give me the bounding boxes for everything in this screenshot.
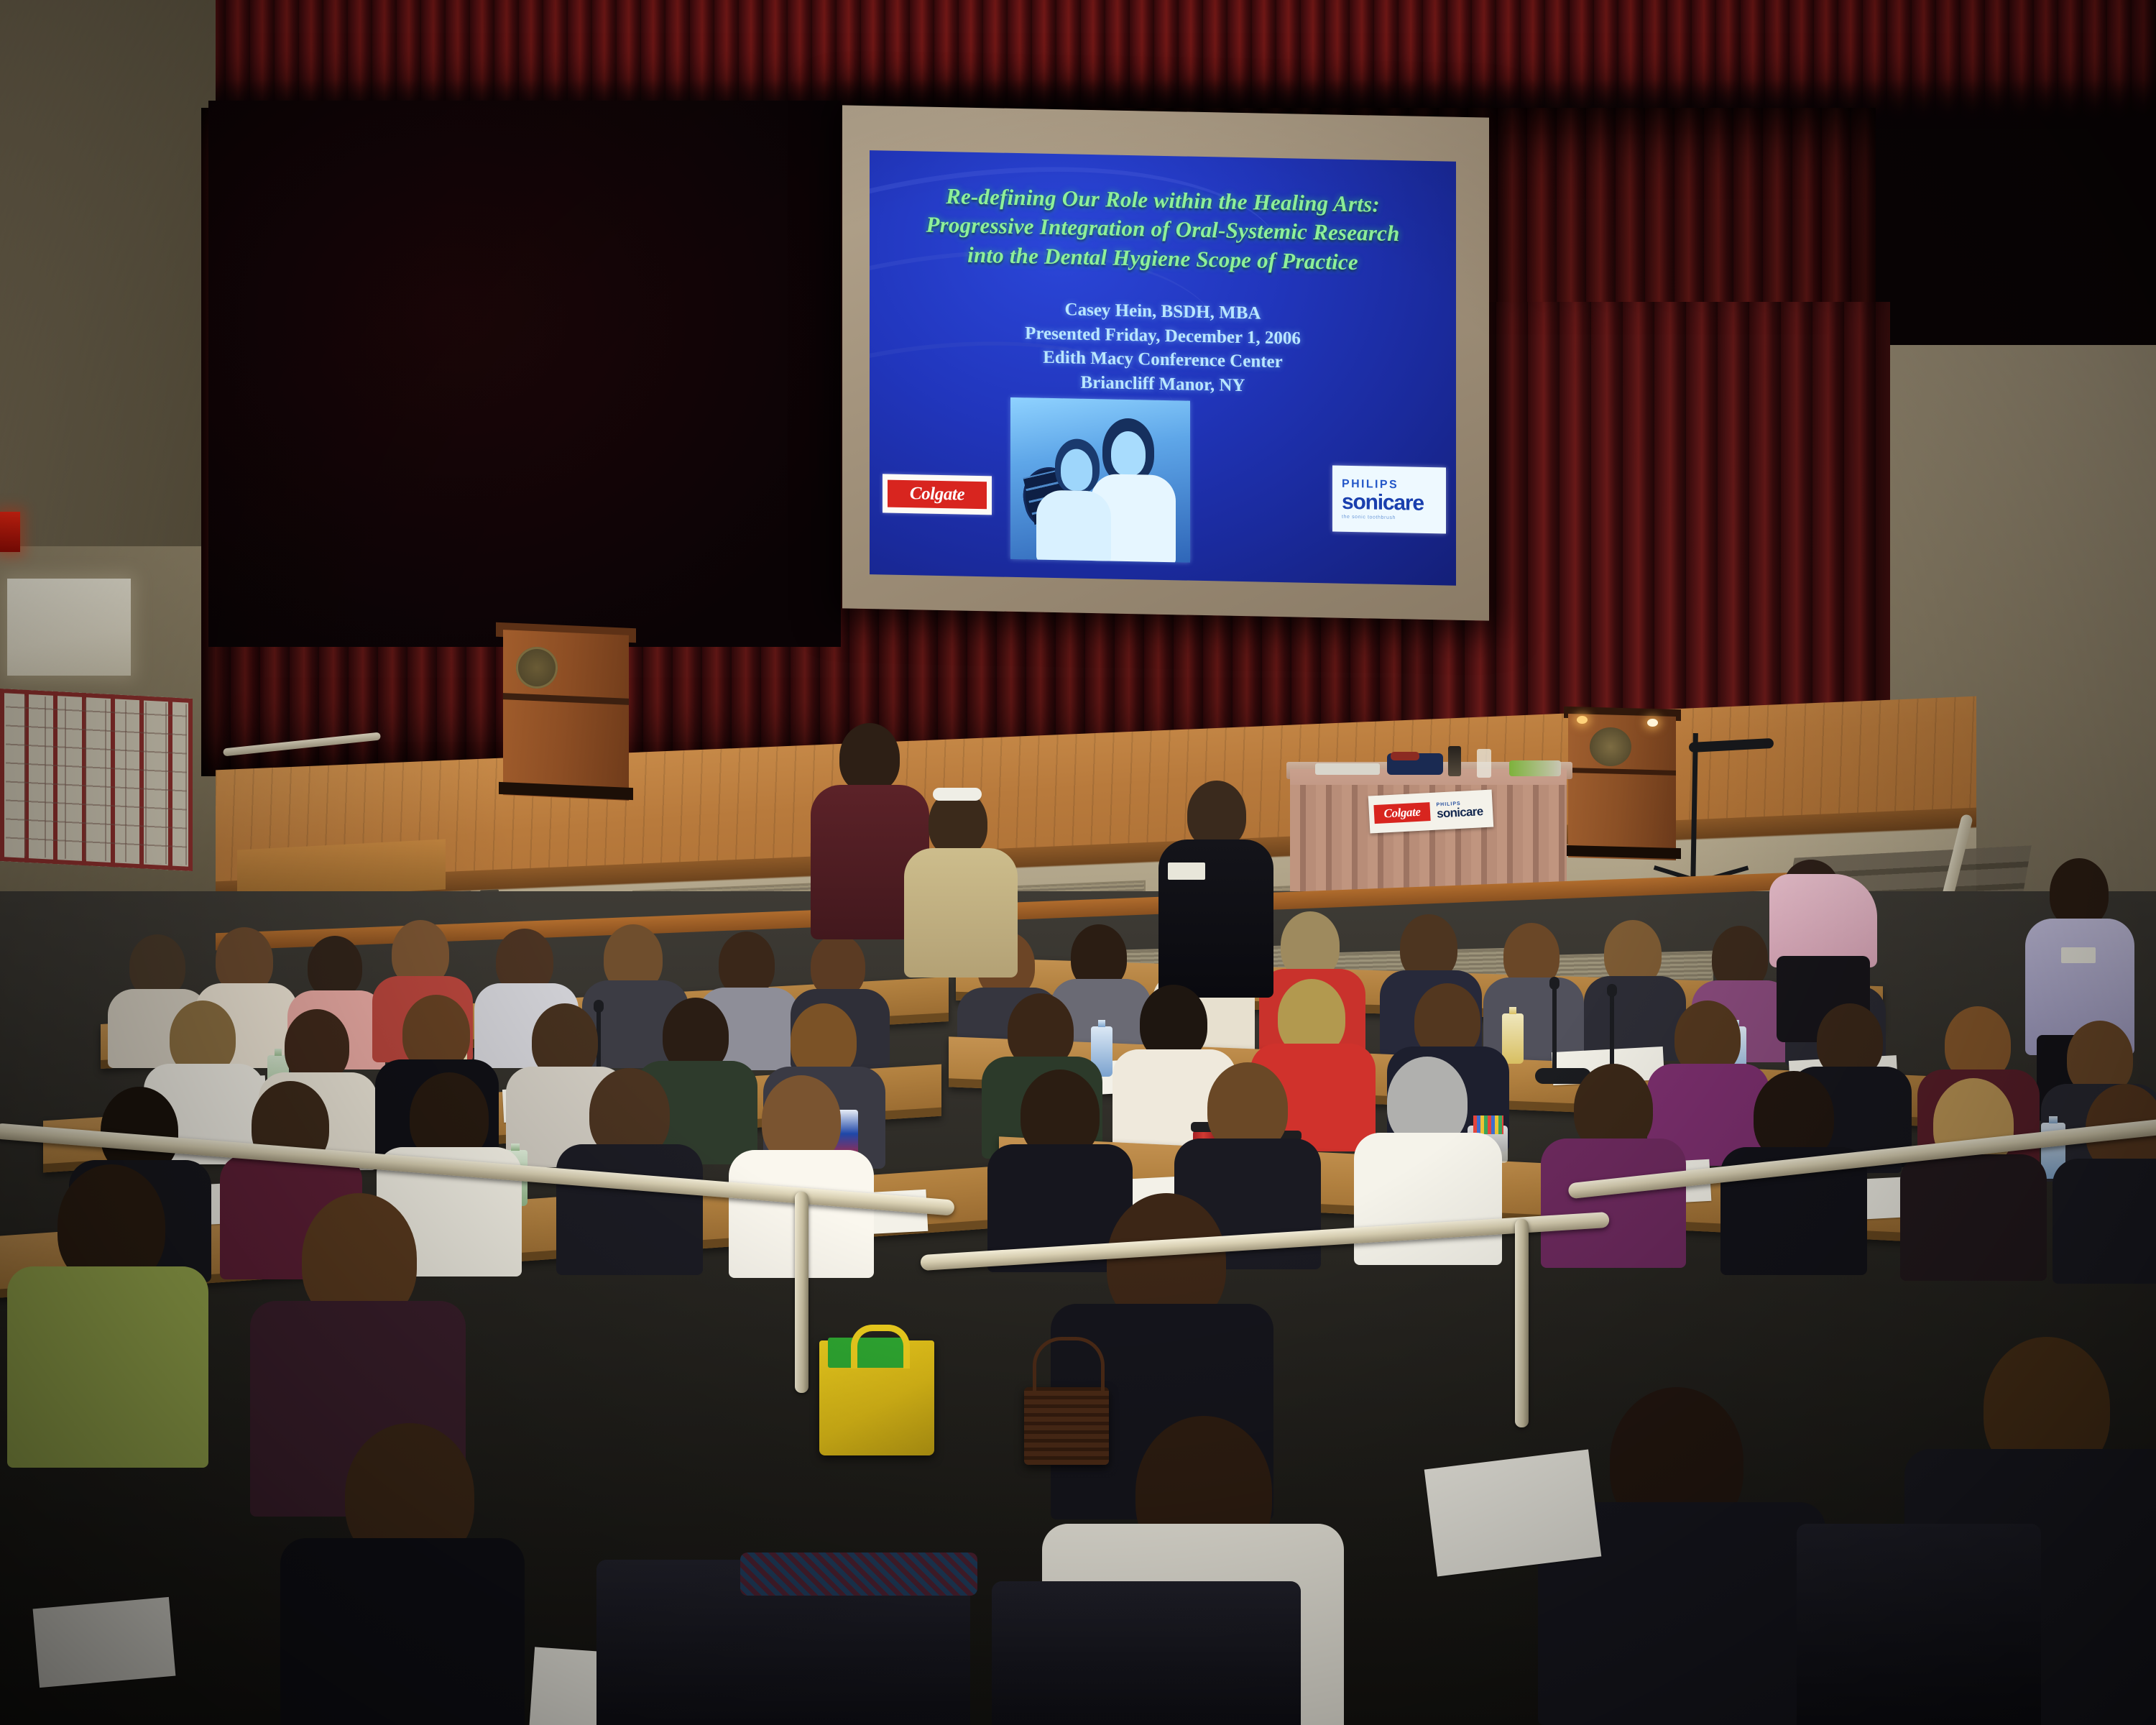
attendee-sweater — [904, 848, 1018, 977]
pens-in-cup — [1473, 1115, 1503, 1134]
philips-sonicare-logo: PHILIPS sonicare the sonic toothbrush — [1332, 465, 1446, 533]
shoji-folding-screen — [0, 689, 193, 871]
attendee-body — [1900, 1154, 2047, 1281]
attendee-body — [1483, 977, 1584, 1061]
name-badge — [2061, 947, 2096, 963]
left-wall-column — [0, 0, 216, 597]
table-glass — [1477, 749, 1491, 778]
lectern-lamp-icon — [1577, 716, 1588, 724]
presentation-slide: Re-defining Our Role within the Healing … — [870, 150, 1456, 586]
staff-pink-top — [1769, 874, 1877, 967]
presenter-head — [839, 723, 900, 792]
sonicare-label: sonicare — [1342, 492, 1446, 515]
podium-seal-icon — [516, 647, 558, 689]
juice-bottle — [1502, 1013, 1524, 1064]
attendee-head — [719, 931, 775, 996]
handout-paper — [1424, 1450, 1602, 1577]
attendee-head — [308, 936, 362, 998]
projection-screen: Re-defining Our Role within the Healing … — [842, 105, 1489, 620]
lectern-lamp-icon — [1647, 719, 1658, 727]
staff-head — [2050, 858, 2109, 927]
theater-seat — [1797, 1524, 2041, 1725]
basket-purse — [1024, 1387, 1109, 1465]
table-bottle — [1448, 746, 1461, 776]
table-microphone — [1610, 993, 1614, 1074]
attendee-body — [1541, 1138, 1686, 1268]
attendee-body — [1354, 1133, 1502, 1265]
colgate-logo-label: Colgate — [888, 480, 987, 510]
sonicare-tagline: the sonic toothbrush — [1342, 515, 1446, 522]
patterned-seat-fabric — [740, 1552, 977, 1596]
sponsor-table-skirt — [1290, 769, 1567, 898]
attendee-body — [280, 1538, 525, 1725]
auditorium-photo: Re-defining Our Role within the Healing … — [0, 0, 2156, 1725]
lit-doorway — [7, 579, 131, 676]
clinician-a-face — [1061, 448, 1092, 491]
railing-post — [1515, 1219, 1529, 1427]
banner-sonicare-label: sonicare — [1437, 805, 1483, 819]
exit-sign-icon — [0, 512, 20, 552]
railing-post — [795, 1192, 808, 1393]
slide-subtitle: Casey Hein, BSDH, MBA Presented Friday, … — [870, 294, 1456, 402]
banner-sonicare-block: PHILIPS sonicare — [1436, 800, 1483, 819]
staff-head — [1187, 781, 1246, 848]
attendee-head — [811, 934, 865, 998]
stage-left-shadow — [208, 101, 841, 647]
clinician-a-coat — [1036, 490, 1111, 563]
colgate-logo: Colgate — [883, 474, 992, 515]
name-badge — [1168, 862, 1205, 880]
attendee-body — [7, 1266, 208, 1468]
table-microphone — [1552, 986, 1557, 1072]
theater-seat — [992, 1581, 1301, 1725]
attendee-head — [285, 1009, 349, 1082]
slide-title: Re-defining Our Role within the Healing … — [870, 180, 1456, 279]
white-headband — [933, 788, 982, 801]
sponsor-banner-sign: Colgate PHILIPS sonicare — [1368, 790, 1493, 834]
table-item-red — [1391, 752, 1419, 760]
table-papers — [1315, 763, 1380, 775]
tote-bag — [819, 1340, 934, 1455]
banner-colgate-label: Colgate — [1373, 802, 1430, 824]
slide-media-row: Colgate PHILIPS sonicare the sonic tooth… — [870, 387, 1456, 579]
handout-paper — [33, 1597, 176, 1688]
attendee-body — [556, 1144, 703, 1275]
slide-clinical-photo — [1010, 397, 1190, 563]
attendee-head — [129, 934, 185, 998]
attendee-body — [2053, 1159, 2156, 1284]
clinician-b-face — [1111, 431, 1146, 477]
lectern-seal-icon — [1590, 727, 1631, 766]
table-product-box — [1509, 760, 1561, 776]
